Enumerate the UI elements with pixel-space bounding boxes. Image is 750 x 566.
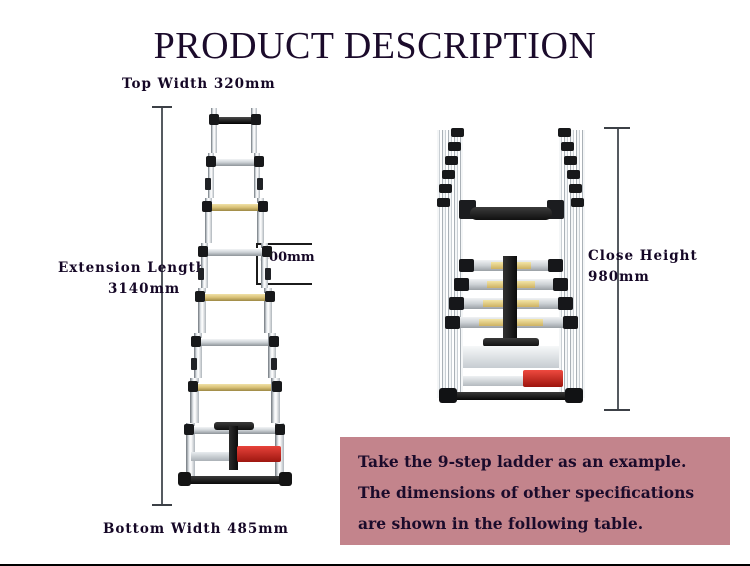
ladder-rung: [203, 248, 263, 256]
closed-ladder-step-cap: [558, 128, 571, 137]
closed-ladder-step-cap: [451, 128, 464, 137]
ladder-rung: [210, 158, 258, 166]
ladder-rung-cap: [275, 424, 285, 435]
label-bottom-width: Bottom Width 485mm: [103, 521, 289, 537]
closed-ladder-step-cap: [564, 156, 577, 165]
closed-ladder-base-plate: [463, 346, 559, 368]
ladder-rung-cap: [258, 201, 268, 212]
label-close-height-value: 980mm: [588, 269, 650, 285]
ladder-rung: [213, 116, 255, 124]
closed-ladder-step-cap: [439, 184, 452, 193]
label-close-height: Close Height: [588, 248, 698, 264]
ladder-lock-tab: [271, 358, 277, 370]
ladder-lock-tab: [198, 268, 204, 280]
ladder-red-release-lever: [237, 446, 281, 462]
carry-handle: [470, 207, 552, 220]
closed-ladder-step-cap: [437, 198, 450, 207]
label-top-width: Top Width 320mm: [122, 76, 276, 92]
closed-rung-cap: [548, 259, 563, 272]
rung-warning-sticker: [513, 319, 543, 326]
closed-ladder-step-cap: [448, 142, 461, 151]
closed-rung-cap: [454, 278, 469, 291]
note-line: Take the 9-step ladder as an example.: [358, 446, 730, 477]
ladder-base-bar: [179, 476, 291, 484]
extension-length-bottom-tick: [152, 504, 172, 506]
product-description-page: PRODUCT DESCRIPTION Top Width 320mm Exte…: [0, 0, 750, 566]
closed-ladder-figure: [437, 130, 585, 412]
closed-rung-cap: [449, 297, 464, 310]
label-extension-length-value: 3140mm: [108, 281, 180, 297]
ladder-rung-cap: [202, 201, 212, 212]
ladder-rung-cap: [262, 246, 272, 257]
closed-ladder-center-post: [503, 256, 517, 344]
closed-ladder-step-cap: [571, 198, 584, 207]
ladder-rung-cap: [209, 114, 219, 125]
extended-ladder-figure: [185, 108, 285, 498]
ladder-lock-tab: [191, 358, 197, 370]
ladder-foot-right: [279, 472, 292, 486]
closed-rung-cap: [563, 316, 578, 329]
ladder-lock-tab: [265, 268, 271, 280]
note-line: The dimensions of other specifications: [358, 477, 730, 508]
ladder-rung-cap: [265, 291, 275, 302]
close-height-top-tick: [604, 127, 630, 129]
page-title: PRODUCT DESCRIPTION: [0, 24, 750, 68]
closed-ladder-step-cap: [442, 170, 455, 179]
ladder-rung-cap: [188, 381, 198, 392]
ladder-rung-cap: [251, 114, 261, 125]
note-line: are shown in the following table.: [358, 508, 730, 539]
ladder-rung-cap: [206, 156, 216, 167]
closed-ladder-red-release-lever: [523, 370, 563, 387]
closed-ladder-foot-left: [439, 388, 457, 403]
closed-ladder-foot-right: [565, 388, 583, 403]
ladder-lock-tab: [257, 178, 263, 190]
closed-ladder-step-cap: [567, 170, 580, 179]
extension-length-top-tick: [152, 106, 172, 108]
ladder-lock-tab: [205, 178, 211, 190]
ladder-rung-cap: [184, 424, 194, 435]
closed-ladder-step-cap: [561, 142, 574, 151]
note-box: Take the 9-step ladder as an example. Th…: [340, 437, 730, 545]
closed-ladder-step-cap: [445, 156, 458, 165]
ladder-rung-cap: [198, 246, 208, 257]
closed-rung-cap: [553, 278, 568, 291]
ladder-rung-cap: [195, 291, 205, 302]
close-height-bottom-tick: [604, 409, 630, 411]
ladder-rung: [200, 293, 266, 301]
closed-ladder-step-cap: [569, 184, 582, 193]
closed-ladder-base-bar: [443, 392, 579, 400]
ladder-foot-left: [178, 472, 191, 486]
ladder-rung-cap: [272, 381, 282, 392]
ladder-rung-cap: [269, 336, 279, 347]
ladder-rung: [193, 383, 271, 391]
closed-rung-cap: [558, 297, 573, 310]
ladder-rung-cap: [254, 156, 264, 167]
ladder-rung-cap: [191, 336, 201, 347]
closed-rung-cap: [459, 259, 474, 272]
ladder-rung: [196, 338, 268, 346]
extension-length-dimension-line: [161, 108, 163, 506]
closed-rung-cap: [445, 316, 460, 329]
ladder-rung: [207, 203, 261, 211]
